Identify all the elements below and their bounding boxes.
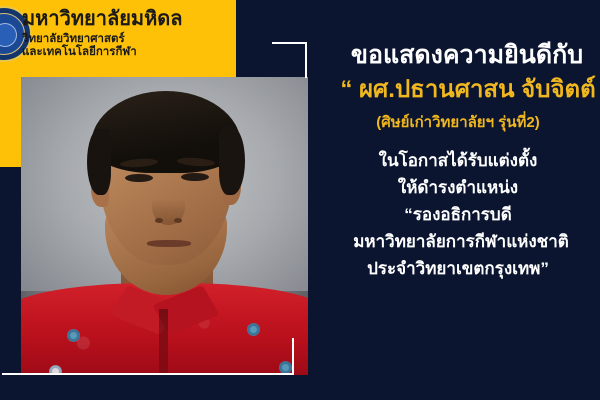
portrait-nostril-left: [155, 218, 163, 223]
message-body-line-1: ในโอกาสได้รับแต่งตั้ง: [316, 147, 600, 174]
frame-bracket-top-right: [272, 42, 307, 78]
brand-subtitle: วิทยาลัยวิทยาศาสตร์ และเทคโนโลยีการกีฬา: [22, 33, 232, 59]
brand-panel-skirt: [0, 77, 21, 167]
portrait-hair-right: [219, 127, 245, 195]
portrait-hair-left: [87, 129, 111, 195]
message-batch: (ศิษย์เก่าวิทยาลัยฯ รุ่นที่2): [316, 108, 600, 138]
message-honoree-name: “ ผศ.ปธานศาสน จับจิตต์: [336, 72, 600, 108]
portrait-nostril-right: [174, 218, 182, 223]
frame-bracket-bottom-left: [2, 338, 294, 375]
portrait-photo: [21, 77, 308, 375]
shirt-motif: [247, 323, 260, 336]
congratulations-card: มหาวิทยาลัยมหิดล วิทยาลัยวิทยาศาสตร์ และ…: [0, 0, 600, 400]
message-body-line-5: ประจำวิทยาเขตกรุงเทพ”: [316, 255, 600, 282]
brand-subtitle-line-1: วิทยาลัยวิทยาศาสตร์: [22, 33, 232, 46]
message-spacer: [316, 138, 600, 147]
message-body-line-2: ให้ดำรงตำแหน่ง: [316, 174, 600, 201]
message-headline: ขอแสดงความยินดีกับ: [334, 38, 600, 72]
portrait-eye-left: [125, 174, 153, 182]
brand-title: มหาวิทยาลัยมหิดล: [22, 7, 232, 31]
message-body-line-3: “รองอธิการบดี: [316, 201, 600, 228]
portrait-eye-right: [181, 173, 209, 181]
brand-subtitle-line-2: และเทคโนโลยีการกีฬา: [22, 46, 232, 59]
portrait-mouth: [147, 240, 191, 247]
message-body-line-4: มหาวิทยาลัยการกีฬาแห่งชาติ: [322, 228, 600, 255]
brand-text: มหาวิทยาลัยมหิดล วิทยาลัยวิทยาศาสตร์ และ…: [22, 7, 232, 59]
message-block: ขอแสดงความยินดีกับ “ ผศ.ปธานศาสน จับจิตต…: [316, 38, 600, 282]
